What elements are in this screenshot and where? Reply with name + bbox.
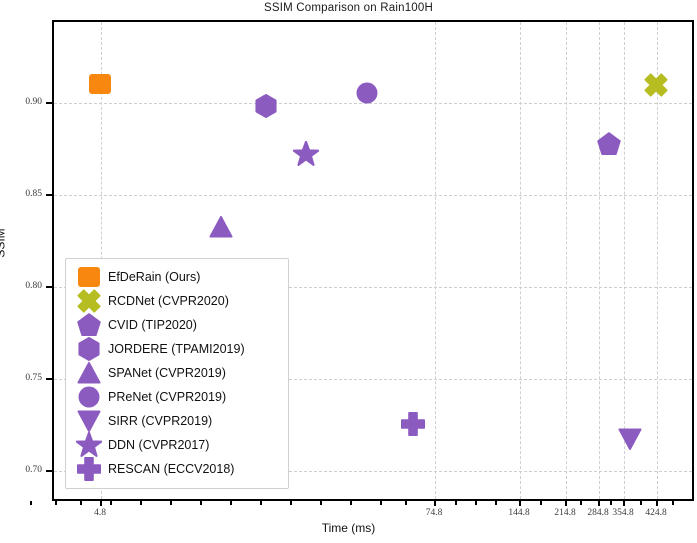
data-point-circle — [357, 82, 378, 103]
x-axis-minor-tick — [580, 501, 582, 505]
data-point-plus — [401, 412, 425, 436]
x-axis-minor-tick — [350, 501, 352, 505]
x-axis-minor-tick — [640, 501, 642, 505]
x-axis-minor-tick — [80, 501, 82, 505]
x-axis-tick — [623, 501, 625, 506]
marker-star — [76, 432, 102, 458]
gridline-vertical — [520, 22, 521, 499]
legend-label: SPANet (CVPR2019) — [108, 366, 226, 380]
x-axis-minor-tick — [290, 501, 292, 505]
legend-marker-hexagon — [74, 337, 104, 361]
y-axis-tick — [46, 470, 52, 472]
marker-plus — [77, 457, 101, 481]
x-axis-minor-tick — [495, 501, 497, 505]
legend-marker-x — [74, 289, 104, 313]
x-axis-tick-label: 74.8 — [426, 508, 443, 518]
data-point-triangle — [209, 215, 233, 239]
y-axis-tick-label: 0.90 — [0, 97, 42, 107]
marker-triangle — [77, 361, 101, 385]
legend-label: PReNet (CVPR2019) — [108, 390, 226, 404]
x-axis-minor-tick — [475, 501, 477, 505]
legend[interactable]: EfDeRain (Ours)RCDNet (CVPR2020)CVID (TI… — [65, 258, 289, 489]
legend-label: EfDeRain (Ours) — [108, 270, 200, 284]
legend-item[interactable]: SIRR (CVPR2019) — [74, 409, 280, 433]
x-axis-minor-tick — [55, 501, 57, 505]
x-axis-minor-tick — [320, 501, 322, 505]
x-axis-minor-tick — [540, 501, 542, 505]
legend-marker-circle — [74, 385, 104, 409]
x-axis-minor-tick — [140, 501, 142, 505]
legend-item[interactable]: SPANet (CVPR2019) — [74, 361, 280, 385]
x-axis-minor-tick — [230, 501, 232, 505]
x-axis-tick-label: 214.8 — [554, 508, 575, 518]
marker-circle — [79, 387, 100, 408]
legend-marker-triangle — [74, 361, 104, 385]
gridline-vertical — [435, 22, 436, 499]
y-axis-tick-label: 0.70 — [0, 465, 42, 475]
x-axis-minor-tick — [610, 501, 612, 505]
legend-item[interactable]: EfDeRain (Ours) — [74, 265, 280, 289]
gridline-vertical — [566, 22, 567, 499]
x-axis-tick-label: 284.8 — [587, 508, 608, 518]
x-axis-tick — [434, 501, 436, 506]
legend-item[interactable]: RESCAN (ECCV2018) — [74, 457, 280, 481]
marker-square — [78, 267, 100, 287]
y-axis-tick-label: 0.85 — [0, 189, 42, 199]
marker-x — [77, 289, 101, 313]
legend-marker-pentagon — [74, 313, 104, 337]
x-axis-minor-tick — [455, 501, 457, 505]
legend-item[interactable]: RCDNet (CVPR2020) — [74, 289, 280, 313]
gridline-horizontal — [54, 103, 692, 104]
chart-root: SSIM Comparison on Rain100H 4.874.8144.8… — [0, 0, 697, 543]
gridline-horizontal — [54, 195, 692, 196]
data-point-square — [89, 74, 111, 94]
data-point-triangle-down — [618, 427, 642, 451]
x-axis-tick — [100, 501, 102, 506]
y-axis-tick — [46, 194, 52, 196]
x-axis-tick — [598, 501, 600, 506]
x-axis-minor-tick — [380, 501, 382, 505]
legend-label: RESCAN (ECCV2018) — [108, 462, 234, 476]
legend-label: SIRR (CVPR2019) — [108, 414, 212, 428]
data-point-star — [293, 141, 319, 167]
x-axis-title: Time (ms) — [0, 521, 697, 535]
data-point-x — [644, 73, 668, 97]
chart-title: SSIM Comparison on Rain100H — [0, 2, 697, 14]
marker-pentagon — [77, 313, 101, 337]
x-axis-minor-tick — [200, 501, 202, 505]
data-point-hexagon — [254, 94, 278, 118]
marker-hexagon — [77, 337, 101, 361]
x-axis-tick — [565, 501, 567, 506]
legend-marker-star — [74, 433, 104, 457]
legend-item[interactable]: PReNet (CVPR2019) — [74, 385, 280, 409]
legend-item[interactable]: DDN (CVPR2017) — [74, 433, 280, 457]
x-axis-tick-label: 354.8 — [612, 508, 633, 518]
gridline-vertical — [599, 22, 600, 499]
legend-label: RCDNet (CVPR2020) — [108, 294, 229, 308]
y-axis-tick-label: 0.75 — [0, 373, 42, 383]
x-axis-tick — [519, 501, 521, 506]
x-axis-tick-label: 144.8 — [508, 508, 529, 518]
x-axis-minor-tick — [405, 501, 407, 505]
legend-label: DDN (CVPR2017) — [108, 438, 209, 452]
x-axis-tick — [656, 501, 658, 506]
x-axis-tick-label: 4.8 — [94, 508, 106, 518]
legend-label: CVID (TIP2020) — [108, 318, 197, 332]
x-axis-tick-label: 424.8 — [645, 508, 666, 518]
legend-marker-square — [74, 265, 104, 289]
legend-marker-triangle-down — [74, 409, 104, 433]
x-axis-minor-tick — [110, 501, 112, 505]
legend-marker-plus — [74, 457, 104, 481]
marker-triangle-down — [77, 409, 101, 433]
legend-item[interactable]: CVID (TIP2020) — [74, 313, 280, 337]
x-axis-minor-tick — [170, 501, 172, 505]
legend-item[interactable]: JORDERE (TPAMI2019) — [74, 337, 280, 361]
x-axis-minor-tick — [672, 501, 674, 505]
y-axis-title: SSIM — [0, 228, 8, 257]
y-axis-tick — [46, 378, 52, 380]
y-axis-tick-label: 0.80 — [0, 281, 42, 291]
x-axis-minor-tick — [260, 501, 262, 505]
y-axis-tick — [46, 102, 52, 104]
y-axis-tick — [46, 286, 52, 288]
legend-label: JORDERE (TPAMI2019) — [108, 342, 245, 356]
data-point-pentagon — [597, 132, 621, 156]
x-axis-minor-tick — [30, 501, 32, 505]
